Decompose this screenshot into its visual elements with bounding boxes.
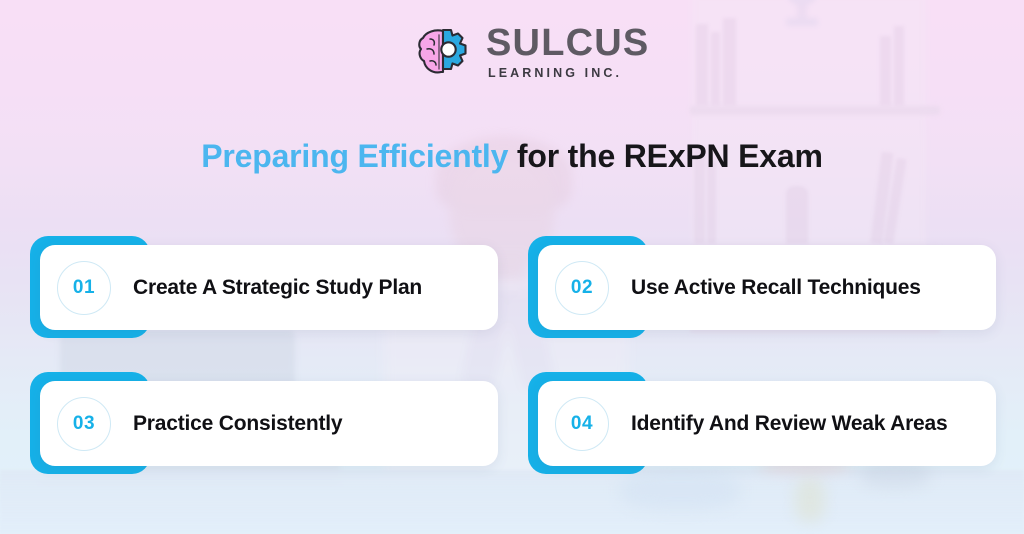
card-body: 02 Use Active Recall Techniques: [538, 245, 996, 330]
brand-name: SULCUS: [486, 24, 649, 62]
brand-tagline: LEARNING INC.: [488, 67, 649, 80]
card-body: 01 Create A Strategic Study Plan: [40, 245, 498, 330]
card-title: Use Active Recall Techniques: [631, 276, 921, 300]
page-title-rest: for the RExPN Exam: [508, 138, 823, 174]
tip-card-04[interactable]: 04 Identify And Review Weak Areas: [528, 372, 996, 474]
poster-canvas: SULCUS LEARNING INC. Preparing Efficient…: [0, 0, 1024, 534]
tip-card-02[interactable]: 02 Use Active Recall Techniques: [528, 236, 996, 338]
card-number-badge: 02: [555, 261, 609, 315]
page-title-accent: Preparing Efficiently: [201, 138, 508, 174]
card-title: Practice Consistently: [133, 412, 342, 436]
card-number-badge: 01: [57, 261, 111, 315]
card-number-badge: 03: [57, 397, 111, 451]
trophy-graphic: [782, 0, 822, 32]
card-title: Identify And Review Weak Areas: [631, 412, 948, 436]
brand-logo: SULCUS LEARNING INC.: [417, 24, 649, 80]
desk-surface-graphic: [0, 470, 1024, 534]
card-body: 04 Identify And Review Weak Areas: [538, 381, 996, 466]
page-title: Preparing Efficiently for the RExPN Exam: [0, 138, 1024, 175]
card-body: 03 Practice Consistently: [40, 381, 498, 466]
card-number-badge: 04: [555, 397, 609, 451]
card-title: Create A Strategic Study Plan: [133, 276, 422, 300]
brain-gear-icon: [417, 27, 475, 77]
tip-card-01[interactable]: 01 Create A Strategic Study Plan: [30, 236, 498, 338]
tip-card-03[interactable]: 03 Practice Consistently: [30, 372, 498, 474]
tips-card-grid: 01 Create A Strategic Study Plan 02 Use …: [30, 236, 996, 474]
